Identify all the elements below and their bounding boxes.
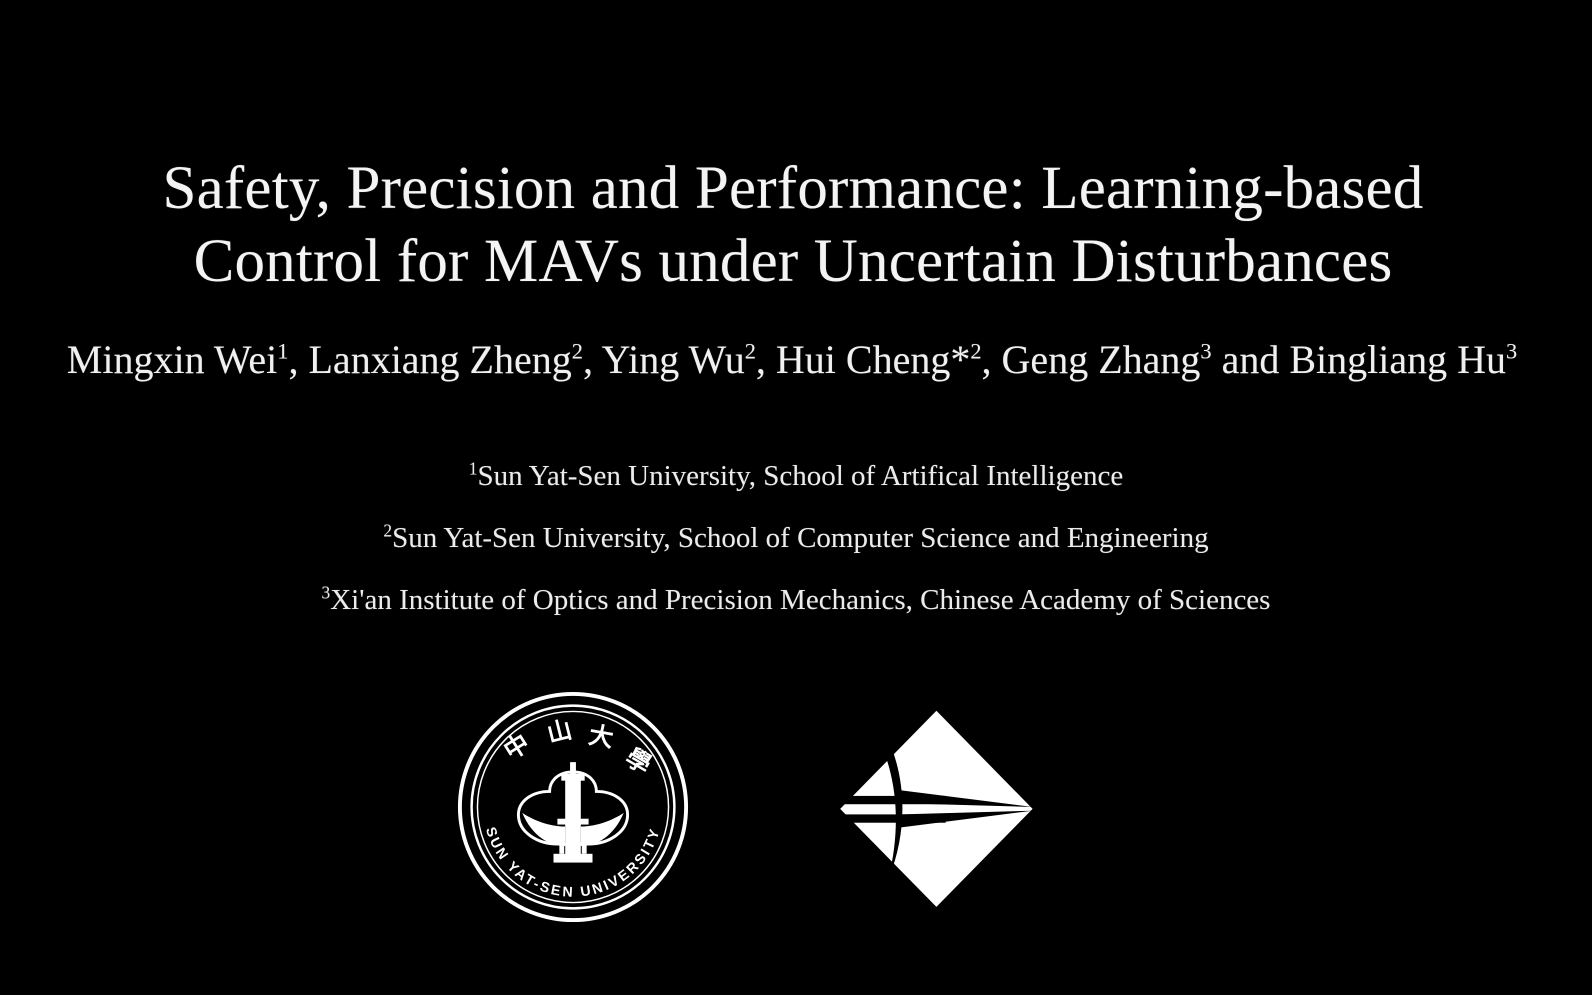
affiliation-text-1: Sun Yat-Sen University, School of Artifi… [478,460,1124,492]
author-separator-1: , [289,337,299,382]
author-separator-3: , [756,337,766,382]
affiliation-text-2: Sun Yat-Sen University, School of Comput… [392,522,1208,554]
affiliation-text-3: Xi'an Institute of Optics and Precision … [330,584,1270,616]
author-name-5: Geng Zhang [1002,337,1201,382]
affiliation-mark-1: 1 [469,458,478,478]
svg-text:學: 學 [621,742,657,779]
author-separator-2: , [583,337,593,382]
author-name-4: Hui Cheng* [776,337,970,382]
page-title: Safety, Precision and Performance: Learn… [0,152,1592,298]
svg-text:大: 大 [587,720,617,753]
affiliation-mark-3: 3 [322,582,331,602]
affiliation-list: 1Sun Yat-Sen University, School of Artif… [0,445,1592,631]
author-name-2: Lanxiang Zheng [309,337,572,382]
author-affiliation-mark-5: 3 [1200,339,1211,364]
author-affiliation-mark-1: 1 [277,339,288,364]
affiliation-item-2: 2Sun Yat-Sen University, School of Compu… [0,507,1592,569]
sun-yat-sen-university-seal-logo: 中 山 大 學 SUN YAT-SEN UNIVERSITY [456,690,690,924]
author-affiliation-mark-6: 3 [1506,339,1517,364]
author-affiliation-mark-4: 2 [970,339,981,364]
logo-row: 中 山 大 學 SUN YAT-SEN UNIVERSITY [0,688,1592,938]
title-slide: Safety, Precision and Performance: Learn… [0,0,1592,995]
title-line-1: Safety, Precision and Performance: Learn… [0,152,1592,225]
affiliation-item-1: 1Sun Yat-Sen University, School of Artif… [0,445,1592,507]
author-name-6: and Bingliang Hu [1222,337,1506,382]
xiopm-diamond-logo [818,696,1040,918]
author-affiliation-mark-2: 2 [572,339,583,364]
affiliation-mark-2: 2 [383,520,392,540]
affiliation-item-3: 3Xi'an Institute of Optics and Precision… [0,569,1592,631]
svg-text:山: 山 [544,714,575,748]
author-separator-4: , [982,337,992,382]
author-name-3: Ying Wu [601,337,744,382]
author-name-1: Mingxin Wei [67,337,278,382]
author-affiliation-mark-3: 2 [745,339,756,364]
author-list: Mingxin Wei1, Lanxiang Zheng2, Ying Wu2,… [0,335,1592,385]
title-line-2: Control for MAVs under Uncertain Disturb… [0,225,1592,298]
